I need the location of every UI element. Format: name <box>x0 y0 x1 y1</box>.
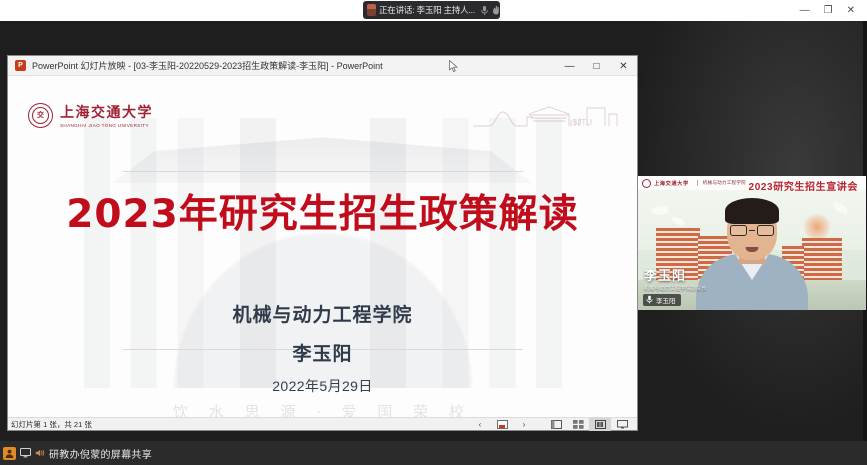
webcam-mic-badge[interactable]: 李玉阳 <box>643 294 681 306</box>
meeting-top-bar: 正在讲话: 李玉阳 主持人... — ❐ ✕ <box>0 0 867 21</box>
webcam-banner-dept: 机械与动力工程学院 <box>697 180 746 186</box>
microphone-icon[interactable] <box>480 5 489 16</box>
slide-date: 2022年5月29日 <box>8 376 637 396</box>
slide-count-label: 幻灯片第 1 张，共 21 张 <box>11 419 92 430</box>
status-bar-controls: ‹ › <box>469 418 633 431</box>
svg-text:SJTU: SJTU <box>572 118 592 127</box>
taskbar: 研教办倪蒙的屏幕共享 <box>0 441 867 465</box>
slide-divider-top <box>123 171 523 172</box>
screen-share-icon <box>3 447 16 460</box>
speaker-pill-icons <box>480 5 501 16</box>
meeting-window-controls: — ❐ ✕ <box>800 0 863 21</box>
slide-presenter: 李玉阳 <box>8 339 637 366</box>
speaker-avatar-icon <box>367 4 376 16</box>
powerpoint-window[interactable]: P PowerPoint 幻灯片放映 - [03-李玉阳-20220529-20… <box>8 56 637 430</box>
webcam-video-panel[interactable]: 上海交通大学 机械与动力工程学院 2023研究生招生宣讲会 李玉阳 机械与动力工… <box>638 176 866 310</box>
meeting-close-button[interactable]: ✕ <box>847 6 855 16</box>
taskbar-share-item[interactable]: 研教办倪蒙的屏幕共享 <box>3 446 152 461</box>
raise-hand-icon[interactable] <box>491 5 501 16</box>
webcam-person <box>696 206 808 310</box>
previous-slide-button[interactable]: ‹ <box>469 418 491 431</box>
webcam-bg-building <box>802 238 842 282</box>
active-speaker-label: 正在讲话: 李玉阳 主持人... <box>379 4 475 16</box>
active-speaker-pill[interactable]: 正在讲话: 李玉阳 主持人... <box>363 1 500 19</box>
slide-sorter-icon[interactable] <box>567 418 589 431</box>
powerpoint-minimize-button[interactable]: — <box>556 56 583 76</box>
powerpoint-maximize-button[interactable]: □ <box>583 56 610 76</box>
sjtu-seal-icon: 交 <box>28 103 53 128</box>
webcam-person-subtitle: 机械与动力工程学院副院长 <box>644 285 706 292</box>
person-glasses <box>730 225 774 236</box>
slide-motto: 饮 水 思 源 · 爱 国 荣 校 <box>8 401 637 417</box>
reading-view-icon[interactable] <box>589 418 611 431</box>
webcam-overlay-title: 2023研究生招生宣讲会 <box>749 178 858 193</box>
sjtu-seal-text: 交 <box>37 110 44 120</box>
slide-canvas[interactable]: 交 上海交通大学 SHANGHAI JIAO TONG UNIVERSITY <box>8 76 637 417</box>
meeting-restore-button[interactable]: ❐ <box>824 6 833 16</box>
slideshow-view-icon[interactable] <box>611 418 633 431</box>
sjtu-logo-cn: 上海交通大学 <box>60 102 153 122</box>
taskbar-share-label: 研教办倪蒙的屏幕共享 <box>49 446 152 461</box>
webcam-logo-cn: 上海交通大学 <box>654 180 689 187</box>
powerpoint-icon: P <box>15 60 26 71</box>
person-hair <box>725 198 779 224</box>
sjtu-logo-en: SHANGHAI JIAO TONG UNIVERSITY <box>60 123 153 128</box>
powerpoint-title-label: PowerPoint 幻灯片放映 - [03-李玉阳-20220529-2023… <box>32 59 383 72</box>
sjtu-logo: 交 上海交通大学 SHANGHAI JIAO TONG UNIVERSITY <box>28 102 153 128</box>
normal-view-icon[interactable] <box>545 418 567 431</box>
screen-root: 正在讲话: 李玉阳 主持人... — ❐ ✕ <box>0 0 867 465</box>
volume-icon <box>34 447 46 459</box>
meeting-minimize-button[interactable]: — <box>800 6 810 16</box>
slide-title: 2023年研究生招生政策解读 <box>8 195 637 234</box>
sjtu-logo-text: 上海交通大学 SHANGHAI JIAO TONG UNIVERSITY <box>60 102 153 128</box>
slide-department: 机械与动力工程学院 <box>8 300 637 327</box>
webcam-mic-label: 李玉阳 <box>656 295 676 305</box>
powerpoint-title-bar[interactable]: P PowerPoint 幻灯片放映 - [03-李玉阳-20220529-20… <box>8 56 637 76</box>
webcam-person-name: 李玉阳 <box>644 265 686 284</box>
powerpoint-status-bar: 幻灯片第 1 张，共 21 张 ‹ › <box>8 417 637 430</box>
webcam-banner-logo: 上海交通大学 机械与动力工程学院 <box>642 179 746 188</box>
microphone-icon <box>646 291 653 309</box>
powerpoint-window-controls: — □ ✕ <box>556 56 637 76</box>
zoom-thumbnail-icon[interactable] <box>491 418 513 431</box>
monitor-icon <box>19 447 31 459</box>
next-slide-button[interactable]: › <box>513 418 535 431</box>
powerpoint-close-button[interactable]: ✕ <box>610 56 637 76</box>
sjtu-seal-icon <box>642 179 651 188</box>
campus-lineart-icon: SJTU <box>471 98 619 128</box>
